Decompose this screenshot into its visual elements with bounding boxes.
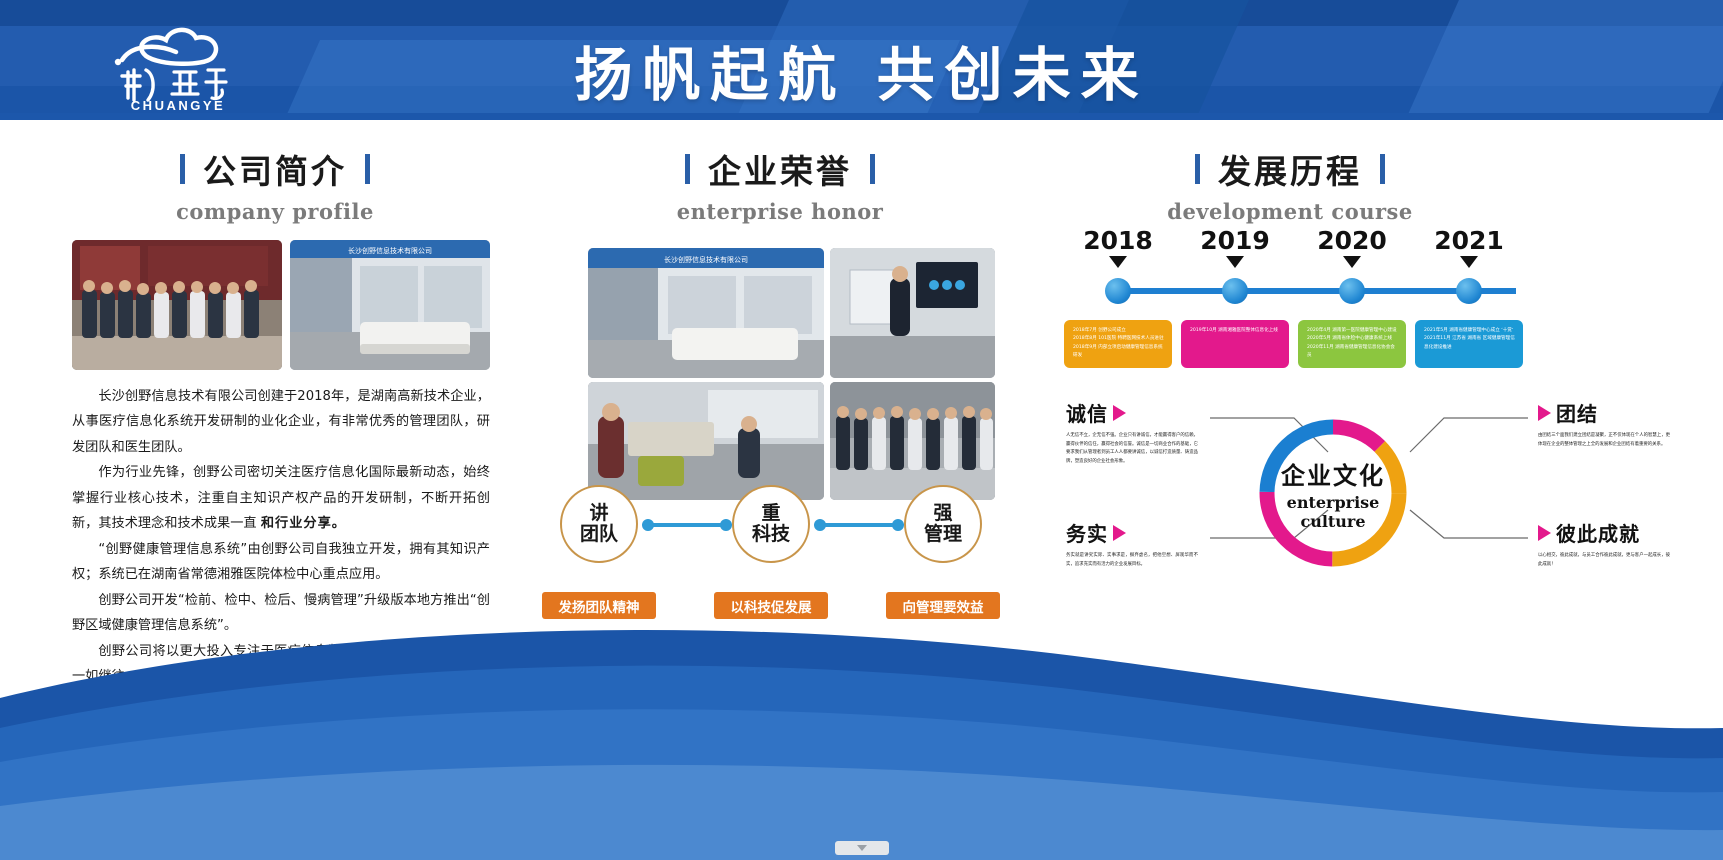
culture-title-text: 务实 bbox=[1066, 518, 1108, 547]
pillar-circle-tech[interactable]: 重 科技 bbox=[732, 485, 810, 563]
culture-center-en2: culture bbox=[1300, 512, 1365, 531]
honor-photo-4 bbox=[830, 382, 995, 500]
pillar-circle-management[interactable]: 强 管理 bbox=[904, 485, 982, 563]
scroll-indicator[interactable] bbox=[0, 841, 1723, 858]
milestone-event: 2019年10月 湖南湘雅医院整体信息化上线 bbox=[1190, 327, 1282, 335]
heading-bar-right bbox=[365, 154, 370, 184]
pillar-connector-dot-2b bbox=[892, 519, 904, 531]
culture-item-title: 务实 bbox=[1066, 518, 1198, 547]
culture-title-text: 彼此成就 bbox=[1556, 518, 1640, 547]
culture-item-body: 务实就是讲究实际、实事求是，摒弃虚名，把他空想、屏观华而不实，追求充实而有活力的… bbox=[1066, 552, 1198, 569]
pillar-line-1: 重 bbox=[761, 503, 780, 524]
honor-photo-1: 长沙创野信息技术有限公司 bbox=[588, 248, 824, 378]
milestone-event: 2018年8月 101医院 特聘医网技术人员进驻 bbox=[1073, 335, 1165, 343]
timeline-marker-2020 bbox=[1343, 256, 1361, 268]
timeline-node-2019[interactable] bbox=[1222, 278, 1248, 304]
box-notch bbox=[1459, 320, 1479, 322]
profile-photo-team bbox=[72, 240, 282, 370]
timeline-marker-2019 bbox=[1226, 256, 1244, 268]
culture-item-title: 彼此成就 bbox=[1538, 518, 1670, 547]
culture-center-en1: enterprise bbox=[1287, 493, 1380, 512]
culture-item-mutual-success: 彼此成就 以心相交，彼此成就，与员工合作彼此成就，更与客户一起成长，彼此成就！ bbox=[1538, 518, 1670, 569]
milestone-event: 2021年5月 湖南省健康管理中心成立 ʻ十覚ʼ bbox=[1424, 327, 1516, 335]
timeline-box-2020: 2020年4月 湖南第一医院健康管理中心建设 2020年5月 湖南省体检中心健康… bbox=[1298, 320, 1406, 368]
heading-text: 发展历程 bbox=[1218, 145, 1362, 193]
section-heading-course: 发展历程 development course bbox=[1070, 145, 1510, 224]
poster-header: CHUANGYE 扬帆起航 共创未来 bbox=[0, 0, 1723, 120]
culture-wheel: 企业文化 enterprise culture 诚信 人无信不立，企无信不强。企… bbox=[1058, 390, 1678, 610]
profile-paragraph-2: 作为行业先锋，创野公司密切关注医疗信息化国际最新动态，始终掌握行业核心技术，注重… bbox=[72, 460, 490, 536]
culture-center-cn: 企业文化 bbox=[1281, 456, 1385, 491]
honor-pillar-row: 讲 团队 重 科技 强 管理 发扬团队精神 以科技促发展 向管理要效益 bbox=[560, 485, 980, 605]
heading-text: 公司简介 bbox=[203, 145, 347, 193]
header-bottom-rule bbox=[0, 113, 1723, 120]
pillar-circle-team[interactable]: 讲 团队 bbox=[560, 485, 638, 563]
arrow-right-icon bbox=[1113, 525, 1126, 541]
development-timeline: 2018 2018年7月 创野公司成立 2018年8月 101医院 特聘医网技术… bbox=[1050, 228, 1530, 378]
profile-paragraph-1: 长沙创野信息技术有限公司创建于2018年，是湖南高新技术企业，从事医疗信息化系统… bbox=[72, 384, 490, 460]
heading-bar-right bbox=[1380, 154, 1385, 184]
timeline-year-2021: 2021 bbox=[1429, 226, 1509, 255]
heading-bar-left bbox=[180, 154, 185, 184]
box-notch bbox=[1342, 320, 1362, 322]
culture-wall-poster: CHUANGYE 扬帆起航 共创未来 公司简介 company profile … bbox=[0, 0, 1723, 860]
section-heading-profile: 公司简介 company profile bbox=[55, 145, 495, 224]
pillar-line-1: 讲 bbox=[589, 503, 608, 524]
honor-photo-2 bbox=[830, 248, 995, 378]
heading-text: 企业荣誉 bbox=[708, 145, 852, 193]
pillar-line-2: 管理 bbox=[924, 524, 962, 545]
heading-bar-left bbox=[685, 154, 690, 184]
photo-render: 长沙创野信息技术有限公司 bbox=[290, 240, 490, 370]
section-heading-course-en: development course bbox=[1070, 199, 1510, 224]
culture-title-text: 诚信 bbox=[1066, 398, 1108, 427]
pillar-line-1: 强 bbox=[933, 503, 952, 524]
timeline-box-2021: 2021年5月 湖南省健康管理中心成立 ʻ十覚ʼ 2021年11月 江苏省 湖南… bbox=[1415, 320, 1523, 368]
photo-render bbox=[830, 382, 995, 500]
profile-paragraph-3: “创野健康管理信息系统”由创野公司自我独立开发，拥有其知识产权；系统已在湖南省常… bbox=[72, 537, 490, 588]
timeline-year-2019: 2019 bbox=[1195, 226, 1275, 255]
photo-render: 长沙创野信息技术有限公司 bbox=[588, 248, 824, 378]
milestone-event: 2020年4月 湖南第一医院健康管理中心建设 bbox=[1307, 327, 1399, 335]
photo-render bbox=[72, 240, 282, 370]
timeline-year-2020: 2020 bbox=[1312, 226, 1392, 255]
milestone-event: 2020年5月 湖南省体检中心健康系统上线 bbox=[1307, 335, 1399, 343]
box-notch bbox=[1225, 320, 1245, 322]
pillar-connector-dot-1b bbox=[720, 519, 732, 531]
culture-item-pragmatism: 务实 务实就是讲究实际、实事求是，摒弃虚名，把他空想、屏观华而不实，追求充实而有… bbox=[1066, 518, 1198, 569]
milestone-event: 2020年11月 湖南省健康管理信息化协会会员 bbox=[1307, 344, 1399, 361]
milestone-event: 2021年11月 江苏省 湖南省 区域健康管理信息化建设推进 bbox=[1424, 335, 1516, 352]
bottom-wave-decoration bbox=[0, 602, 1723, 860]
culture-item-title: 团结 bbox=[1538, 398, 1670, 427]
culture-item-integrity: 诚信 人无信不立，企无信不强。企业只有讲诚信，才能赢得客户的信赖，赢得伙伴的信任… bbox=[1066, 398, 1198, 466]
culture-ring: 企业文化 enterprise culture bbox=[1248, 408, 1418, 578]
arrow-right-icon bbox=[1538, 405, 1551, 421]
pillar-line-2: 团队 bbox=[580, 524, 618, 545]
culture-item-unity: 团结 由团结三个面我们建立团结是凝聚，正不仅体现在个人的智慧上，更体现在企业的整… bbox=[1538, 398, 1670, 449]
box-notch bbox=[1108, 320, 1128, 322]
culture-item-body: 以心相交，彼此成就，与员工合作彼此成就，更与客户一起成长，彼此成就！ bbox=[1538, 552, 1670, 569]
section-heading-honor: 企业荣誉 enterprise honor bbox=[560, 145, 1000, 224]
pillar-connector-1 bbox=[646, 523, 728, 527]
profile-handwritten-fragment: 和行业分享。 bbox=[261, 516, 346, 531]
culture-ring-center: 企业文化 enterprise culture bbox=[1248, 408, 1418, 578]
svg-text:长沙创野信息技术有限公司: 长沙创野信息技术有限公司 bbox=[664, 255, 748, 264]
profile-photo-office: 长沙创野信息技术有限公司 bbox=[290, 240, 490, 370]
timeline-node-2020[interactable] bbox=[1339, 278, 1365, 304]
section-heading-profile-en: company profile bbox=[55, 199, 495, 224]
milestone-event: 2018年7月 创野公司成立 bbox=[1073, 327, 1165, 335]
honor-photo-3 bbox=[588, 382, 824, 500]
timeline-box-2018: 2018年7月 创野公司成立 2018年8月 101医院 特聘医网技术人员进驻 … bbox=[1064, 320, 1172, 368]
section-heading-honor-cn: 企业荣誉 bbox=[560, 145, 1000, 193]
timeline-box-2019: 2019年10月 湖南湘雅医院整体信息化上线 bbox=[1181, 320, 1289, 368]
culture-title-text: 团结 bbox=[1556, 398, 1598, 427]
culture-item-body: 由团结三个面我们建立团结是凝聚，正不仅体现在个人的智慧上，更体现在企业的整体管理… bbox=[1538, 432, 1670, 449]
arrow-right-icon bbox=[1538, 525, 1551, 541]
heading-bar-right bbox=[870, 154, 875, 184]
milestone-event: 2018年9月 内部立项启动健康管理信息系统研发 bbox=[1073, 344, 1165, 361]
poster-title: 扬帆起航 共创未来 bbox=[0, 28, 1723, 112]
section-heading-honor-en: enterprise honor bbox=[560, 199, 1000, 224]
pillar-line-2: 科技 bbox=[752, 524, 790, 545]
timeline-marker-2021 bbox=[1460, 256, 1478, 268]
pillar-connector-dot-1a bbox=[642, 519, 654, 531]
timeline-node-2021[interactable] bbox=[1456, 278, 1482, 304]
svg-text:长沙创野信息技术有限公司: 长沙创野信息技术有限公司 bbox=[348, 246, 432, 255]
photo-render bbox=[588, 382, 824, 500]
arrow-right-icon bbox=[1113, 405, 1126, 421]
culture-item-body: 人无信不立，企无信不强。企业只有讲诚信，才能赢得客户的信赖，赢得伙伴的信任，赢得… bbox=[1066, 432, 1198, 466]
photo-render bbox=[830, 248, 995, 378]
timeline-node-2018[interactable] bbox=[1105, 278, 1131, 304]
section-heading-course-cn: 发展历程 bbox=[1070, 145, 1510, 193]
pillar-connector-2 bbox=[818, 523, 900, 527]
pillar-connector-dot-2a bbox=[814, 519, 826, 531]
culture-item-title: 诚信 bbox=[1066, 398, 1198, 427]
scroll-down-icon[interactable] bbox=[835, 841, 889, 855]
section-heading-profile-cn: 公司简介 bbox=[55, 145, 495, 193]
timeline-year-2018: 2018 bbox=[1078, 226, 1158, 255]
timeline-marker-2018 bbox=[1109, 256, 1127, 268]
heading-bar-left bbox=[1195, 154, 1200, 184]
